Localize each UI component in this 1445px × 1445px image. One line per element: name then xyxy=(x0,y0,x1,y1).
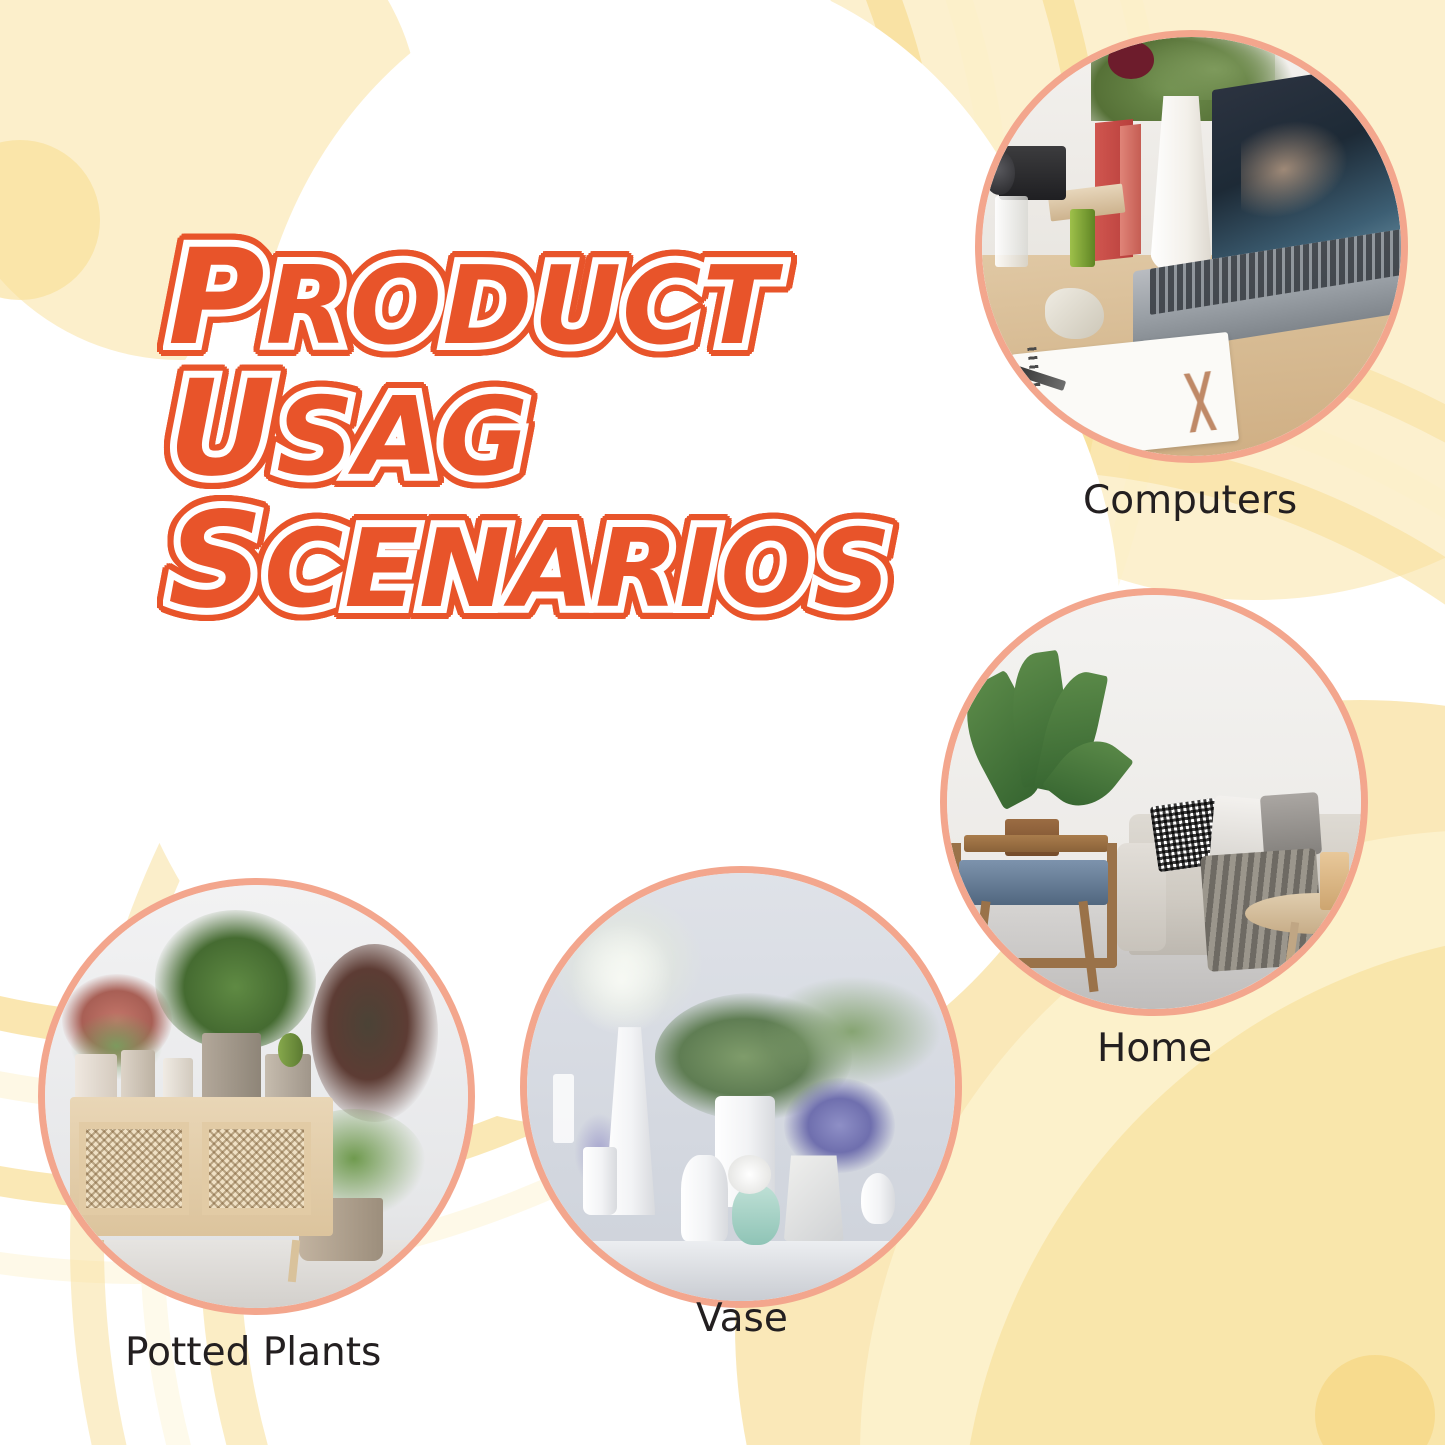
table-surface-icon xyxy=(527,1241,955,1301)
potted-plants-photo xyxy=(45,885,468,1308)
title-line-1-rest: RODUCT xyxy=(266,244,777,369)
cabinet-leg-icon xyxy=(96,1240,104,1282)
candle-icon xyxy=(1320,852,1349,910)
title-line-3-rest: CENARIOS xyxy=(264,507,892,632)
scenario-label-potted-plants: Potted Plants xyxy=(125,1330,381,1375)
title-line-2-rest: SAG xyxy=(276,375,529,500)
dark-flower-icon xyxy=(1108,41,1154,79)
white-roses-icon xyxy=(728,1155,771,1194)
crumpled-paper-icon xyxy=(1045,288,1104,338)
title-line-3-capital: S xyxy=(168,484,264,638)
croton-plant-icon xyxy=(311,944,438,1122)
camera-icon xyxy=(999,146,1066,200)
title-line-3: SCENARIOS xyxy=(168,501,928,622)
title-line-2: USAG xyxy=(168,369,928,490)
glass-ornament-icon xyxy=(553,1074,574,1142)
textured-white-vase-icon xyxy=(681,1155,728,1241)
scenario-label-vase: Vase xyxy=(696,1296,788,1341)
vase-arrangement-photo xyxy=(527,873,955,1301)
ficus-plant-icon xyxy=(155,910,316,1050)
small-white-vase-icon xyxy=(583,1147,617,1215)
scenario-image-vase[interactable] xyxy=(520,866,962,1308)
page-title: PRODUCT USAG SCENARIOS xyxy=(168,238,928,632)
small-vase-right-icon xyxy=(861,1173,895,1224)
faceted-vase-icon xyxy=(784,1155,844,1241)
title-line-1: PRODUCT xyxy=(168,238,928,359)
floor-icon xyxy=(45,1240,468,1308)
scenario-image-home[interactable] xyxy=(940,588,1368,1016)
rattan-door-right-icon xyxy=(202,1122,312,1215)
scenario-label-computers: Computers xyxy=(1083,478,1297,523)
eucalyptus-2-icon xyxy=(762,976,942,1087)
blue-chair-cushion-icon xyxy=(959,860,1108,906)
scenario-image-potted-plants[interactable] xyxy=(38,878,475,1315)
scenario-image-computers[interactable] xyxy=(975,30,1408,463)
red-book-2-icon xyxy=(1120,124,1141,256)
infographic-canvas: PRODUCT USAG SCENARIOS Computers xyxy=(0,0,1445,1445)
mint-green-vase-icon xyxy=(732,1185,779,1245)
living-room-photo xyxy=(947,595,1361,1009)
desk-laptop-photo xyxy=(982,37,1401,456)
babys-breath-2-icon xyxy=(570,924,673,1035)
glass-bottle-icon xyxy=(995,196,1029,267)
green-bottle-icon xyxy=(1070,209,1095,268)
rattan-door-left-icon xyxy=(79,1122,189,1215)
scenario-label-home: Home xyxy=(1097,1026,1212,1071)
cactus-icon xyxy=(278,1033,303,1067)
